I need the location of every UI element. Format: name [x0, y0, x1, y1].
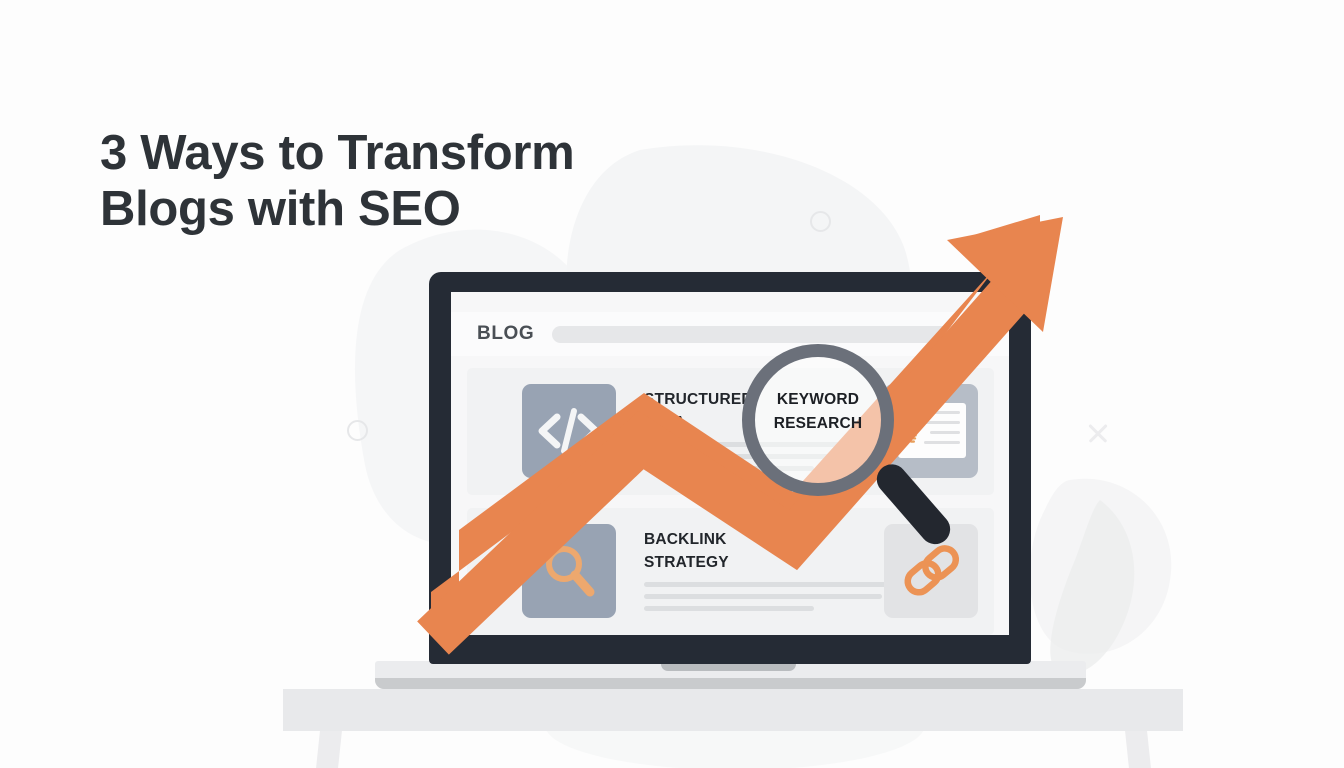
magnifier-icon [522, 524, 616, 618]
placeholder-line [644, 466, 814, 471]
card-title: BACKLINK STRATEGY [644, 528, 859, 574]
laptop-base-lip [375, 678, 1086, 689]
card-body-placeholder [644, 442, 894, 478]
desk-leg-right [1125, 731, 1151, 768]
laptop-screen: BLOG [451, 292, 1009, 635]
list-item[interactable]: STRUCTURED DATA [467, 368, 994, 495]
card-title-line-2: STRATEGY [644, 554, 729, 571]
card-title-line-1: STRUCTURED [644, 391, 753, 408]
blog-site-label: BLOG [477, 323, 534, 345]
card-title: STRUCTURED DATA [644, 388, 859, 434]
blog-header-bar: BLOG [451, 312, 1009, 356]
poster-canvas: 3 Ways to Transform Blogs with SEO BLOG [0, 0, 1344, 768]
mini-preview-card [898, 403, 966, 458]
placeholder-line [644, 594, 882, 599]
decorative-x-icon [1086, 421, 1110, 445]
card-body-placeholder [644, 582, 894, 618]
placeholder-line [644, 454, 882, 459]
search-input[interactable] [552, 326, 982, 343]
list-item[interactable]: BACKLINK STRATEGY [467, 508, 994, 635]
desk-surface [283, 689, 1183, 731]
chain-link-icon [884, 524, 978, 618]
placeholder-line [644, 606, 814, 611]
laptop-illustration: BLOG [429, 272, 1031, 664]
card-thumbnail [522, 384, 616, 478]
page-title-line-1: 3 Ways to Transform [100, 125, 720, 181]
card-thumbnail [522, 524, 616, 618]
decorative-circle-icon [810, 211, 831, 232]
desk-leg-left [316, 731, 342, 768]
card-title-line-2: DATA [644, 414, 686, 431]
card-title-line-1: BACKLINK [644, 531, 727, 548]
card-thumbnail-right [884, 384, 978, 478]
page-title: 3 Ways to Transform Blogs with SEO [100, 125, 720, 237]
card-thumbnail-right [884, 524, 978, 618]
lightbulb-icon [904, 415, 921, 445]
placeholder-line [644, 582, 894, 587]
page-title-line-2: Blogs with SEO [100, 181, 720, 237]
placeholder-line [644, 442, 894, 447]
code-icon [522, 384, 616, 478]
decorative-circle-icon [347, 420, 368, 441]
